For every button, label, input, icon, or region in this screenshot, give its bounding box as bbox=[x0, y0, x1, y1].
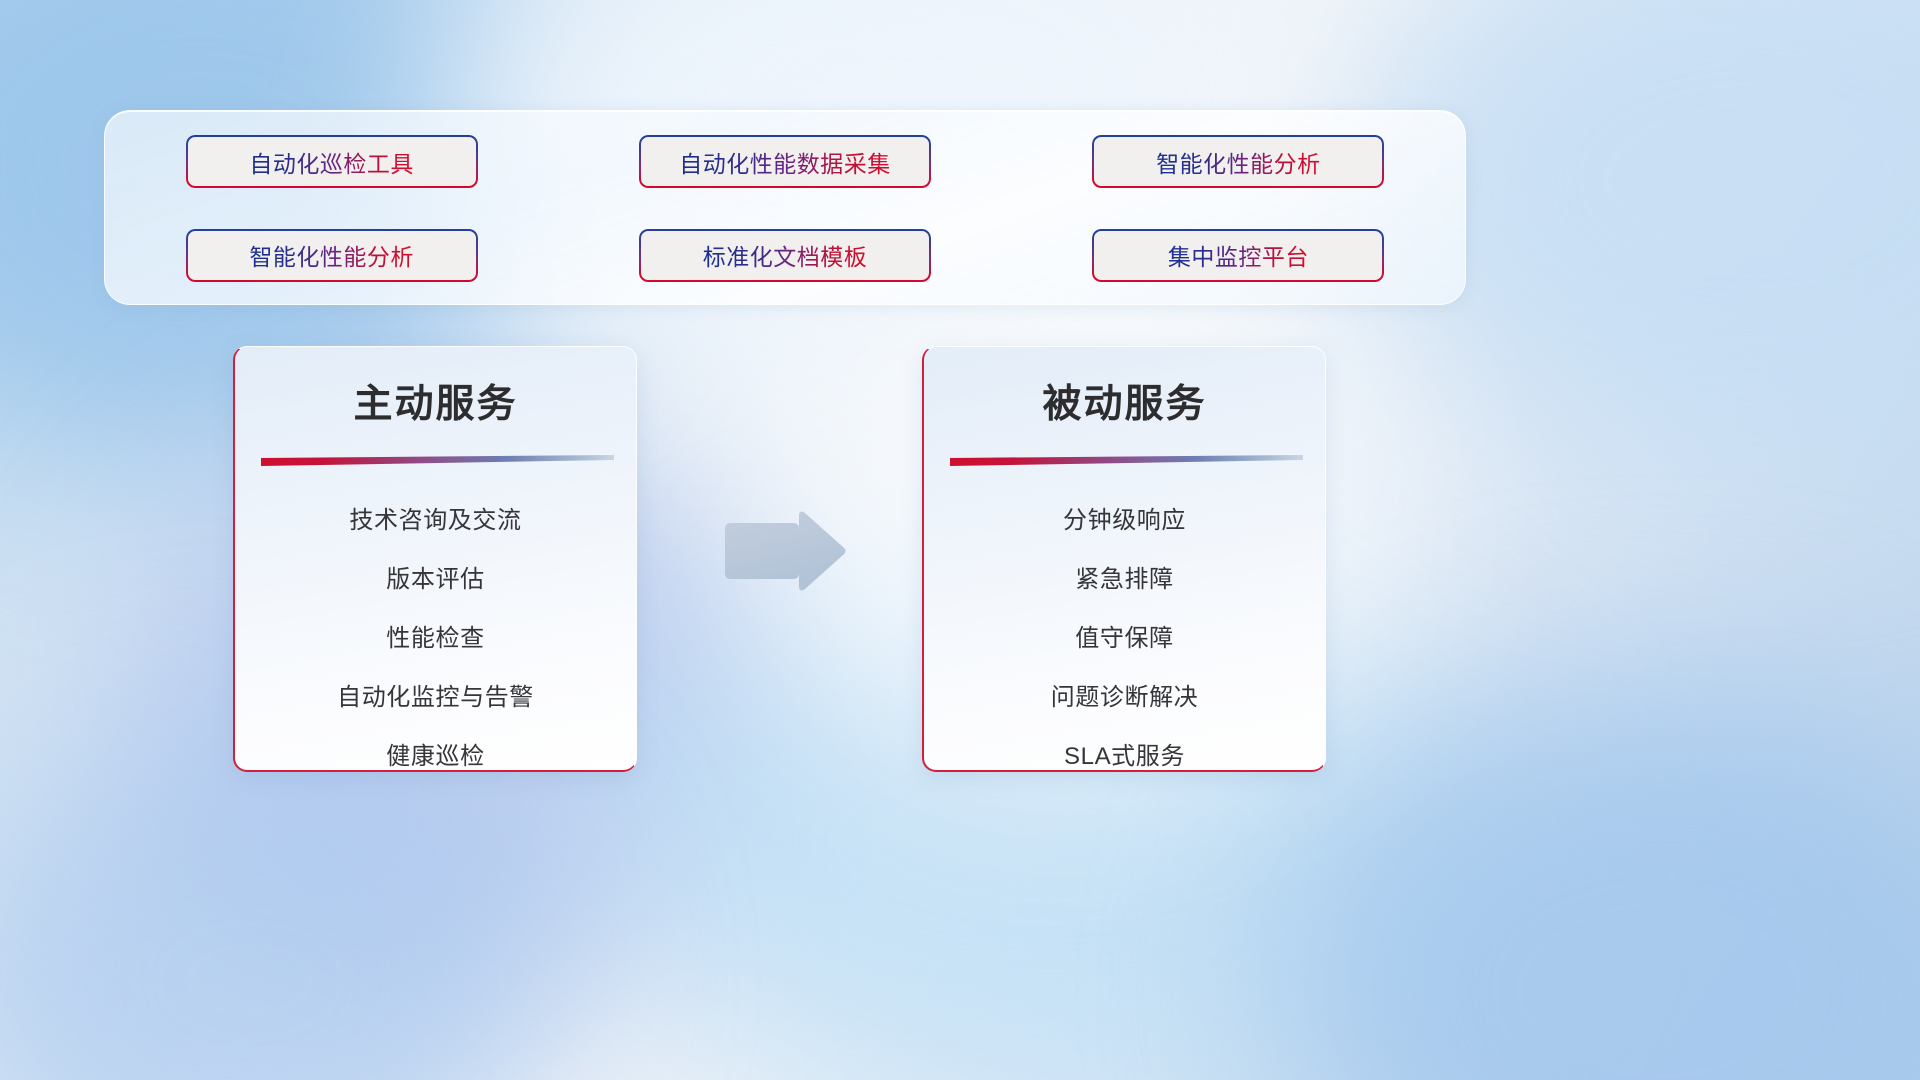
card-list-item: 值守保障 bbox=[924, 609, 1325, 668]
card-list-item: 分钟级响应 bbox=[924, 491, 1325, 550]
card-divider bbox=[261, 451, 614, 469]
card-list-item: 版本评估 bbox=[235, 550, 636, 609]
capability-chip-4[interactable]: 智能化性能分析 bbox=[186, 229, 478, 282]
card-item-list: 技术咨询及交流 版本评估 性能检查 自动化监控与告警 健康巡检 bbox=[235, 491, 636, 772]
capability-chip-label: 智能化性能分析 bbox=[249, 238, 414, 272]
capability-chip-label: 标准化文档模板 bbox=[703, 238, 868, 272]
card-list-item: 紧急排障 bbox=[924, 550, 1325, 609]
service-card-proactive: 主动服务 技术咨询及交流 版本评估 性能检查 自动化监控与告警 健康巡检 bbox=[233, 346, 637, 772]
card-list-item: SLA式服务 bbox=[924, 727, 1325, 772]
card-list-item: 自动化监控与告警 bbox=[235, 668, 636, 727]
card-list-item: 问题诊断解决 bbox=[924, 668, 1325, 727]
card-list-item: 健康巡检 bbox=[235, 727, 636, 772]
card-title: 被动服务 bbox=[924, 373, 1325, 429]
capability-chip-3[interactable]: 智能化性能分析 bbox=[1092, 135, 1384, 188]
capability-panel: 自动化巡检工具 自动化性能数据采集 智能化性能分析 智能化性能分析 标准化文档模… bbox=[104, 110, 1466, 305]
card-divider bbox=[950, 451, 1303, 469]
capability-chip-2[interactable]: 自动化性能数据采集 bbox=[639, 135, 931, 188]
card-list-item: 技术咨询及交流 bbox=[235, 491, 636, 550]
capability-chip-label: 集中监控平台 bbox=[1168, 238, 1309, 272]
divider-wedge-icon bbox=[950, 455, 1303, 466]
card-list-item: 性能检查 bbox=[235, 609, 636, 668]
card-title: 主动服务 bbox=[235, 373, 636, 429]
capability-chip-label: 智能化性能分析 bbox=[1156, 145, 1321, 179]
arrow-right-icon bbox=[719, 503, 849, 600]
divider-wedge-icon bbox=[261, 455, 614, 466]
service-card-reactive: 被动服务 分钟级响应 紧急排障 值守保障 问题诊断解决 SLA式服务 bbox=[922, 346, 1326, 772]
capability-chip-5[interactable]: 标准化文档模板 bbox=[639, 229, 931, 282]
capability-chip-label: 自动化巡检工具 bbox=[249, 145, 414, 179]
card-item-list: 分钟级响应 紧急排障 值守保障 问题诊断解决 SLA式服务 bbox=[924, 491, 1325, 772]
capability-chip-6[interactable]: 集中监控平台 bbox=[1092, 229, 1384, 282]
capability-chip-1[interactable]: 自动化巡检工具 bbox=[186, 135, 478, 188]
capability-chip-label: 自动化性能数据采集 bbox=[679, 145, 891, 179]
